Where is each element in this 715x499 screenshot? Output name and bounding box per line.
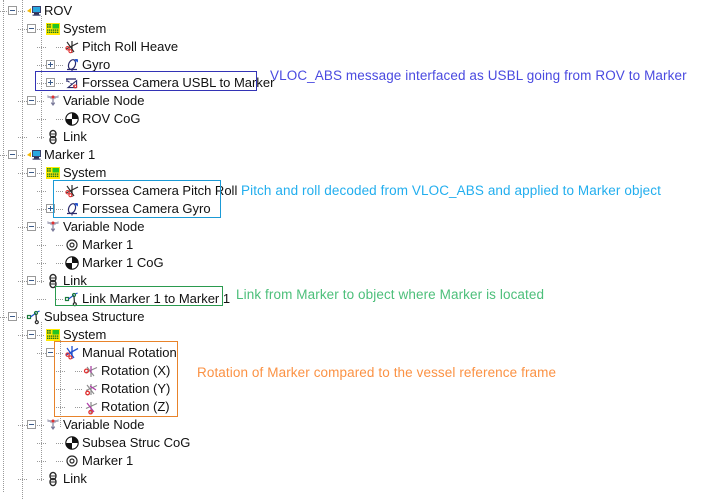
collapse-icon[interactable] (8, 6, 17, 15)
tree-node-label: Pitch Roll Heave (82, 38, 178, 56)
tree-node-label: Forssea Camera Gyro (82, 200, 211, 218)
tree-node-gyro[interactable]: Gyro (0, 56, 300, 74)
tree-guide-line (60, 340, 61, 427)
tree-guide-line (22, 0, 23, 157)
link-graph-icon (26, 309, 42, 325)
expand-icon[interactable] (46, 78, 55, 87)
tree-node-label: Link (63, 470, 87, 488)
tree-node-label: Gyro (82, 56, 110, 74)
tree-node-pitch-roll-heave[interactable]: Pitch Roll Heave (0, 38, 300, 56)
tree-node-label: Manual Rotation (82, 344, 177, 362)
tree-stub-line (56, 191, 63, 192)
tree-node-link[interactable]: Link (0, 470, 300, 488)
variable-node-icon (45, 417, 61, 433)
annotation-text-blue: VLOC_ABS message interfaced as USBL goin… (270, 68, 687, 83)
tree-node-link[interactable]: Link (0, 128, 300, 146)
tree-stub-line (56, 443, 63, 444)
collapse-icon[interactable] (27, 168, 36, 177)
tree-stub-line (56, 119, 63, 120)
tree-node-label: Marker 1 (82, 236, 133, 254)
tree-node-system[interactable]: System (0, 20, 300, 38)
tree-stub-line (56, 209, 63, 210)
tree-node-label: System (63, 326, 106, 344)
tree-node-label: Marker 1 (82, 452, 133, 470)
tree-node-marker-1-cog[interactable]: Marker 1 CoG (0, 254, 300, 272)
collapse-icon[interactable] (8, 312, 17, 321)
tree-node-label: Link Marker 1 to Marker 1 (82, 290, 230, 308)
marker-target-icon (64, 237, 80, 253)
tree-node-label: Link (63, 128, 87, 146)
collapse-icon[interactable] (46, 348, 55, 357)
vessel-monitor-icon (26, 147, 42, 163)
tree-node-forssea-camera-usbl-to-marker[interactable]: Forssea Camera USBL to Marker (0, 74, 300, 92)
tree-node-rov-cog[interactable]: ROV CoG (0, 110, 300, 128)
tree-guide-line (41, 412, 42, 481)
tree-node-system[interactable]: System (0, 164, 300, 182)
collapse-icon[interactable] (27, 276, 36, 285)
tree-node-manual-rotation[interactable]: Manual Rotation (0, 344, 300, 362)
tree-node-label: Forssea Camera Pitch Roll (82, 182, 237, 200)
tree-guide-line (41, 160, 42, 283)
tree-node-marker-1[interactable]: Marker 1 (0, 452, 300, 470)
link-chain-icon (45, 471, 61, 487)
tree-node-marker-1[interactable]: Marker 1 (0, 146, 300, 164)
tree-stub-line (56, 83, 63, 84)
tree-guide-line (22, 304, 23, 499)
gyro-icon (64, 57, 80, 73)
vessel-monitor-icon (26, 3, 42, 19)
expand-icon[interactable] (46, 204, 55, 213)
tree-node-label: System (63, 20, 106, 38)
cog-sphere-icon (64, 435, 80, 451)
collapse-icon[interactable] (27, 330, 36, 339)
expand-icon[interactable] (46, 60, 55, 69)
system-grid-icon (45, 327, 61, 343)
variable-node-icon (45, 93, 61, 109)
system-grid-icon (45, 165, 61, 181)
system-grid-icon (45, 21, 61, 37)
tree-stub-line (75, 389, 82, 390)
tree-node-system[interactable]: System (0, 326, 300, 344)
axis-cross-blue-icon (64, 345, 80, 361)
tree-stub-line (75, 407, 82, 408)
tree-node-label: Variable Node (63, 92, 144, 110)
annotation-text-orange: Rotation of Marker compared to the vesse… (197, 365, 556, 380)
tree-node-label: Rotation (X) (101, 362, 170, 380)
axis-rot-z-icon (83, 399, 99, 415)
tree-node-label: System (63, 164, 106, 182)
tree-guide-line (22, 142, 23, 319)
gyro-icon (64, 201, 80, 217)
link-graph-icon (64, 291, 80, 307)
tree-node-subsea-struc-cog[interactable]: Subsea Struc CoG (0, 434, 300, 452)
collapse-icon[interactable] (27, 24, 36, 33)
collapse-icon[interactable] (27, 96, 36, 105)
cog-sphere-icon (64, 255, 80, 271)
tree-node-forssea-camera-gyro[interactable]: Forssea Camera Gyro (0, 200, 300, 218)
tree-stub-line (56, 65, 63, 66)
tree-node-label: Forssea Camera USBL to Marker (82, 74, 274, 92)
tree-node-label: Rotation (Z) (101, 398, 170, 416)
cog-sphere-icon (64, 111, 80, 127)
link-chain-icon (45, 129, 61, 145)
tree-stub-line (75, 371, 82, 372)
collapse-icon[interactable] (8, 150, 17, 159)
tree-node-label: Subsea Struc CoG (82, 434, 190, 452)
tree-node-label: Marker 1 (44, 146, 95, 164)
tree-stub-line (56, 245, 63, 246)
tree-node-label: ROV CoG (82, 110, 141, 128)
tree-node-label: Subsea Structure (44, 308, 144, 326)
axis-rot-y-icon (83, 381, 99, 397)
link-chain-icon (45, 273, 61, 289)
tree-node-label: Rotation (Y) (101, 380, 170, 398)
tree-guide-line (41, 16, 42, 139)
tree-node-rov[interactable]: ROV (0, 2, 300, 20)
usbl-camera-icon (64, 75, 80, 91)
annotation-text-green: Link from Marker to object where Marker … (236, 287, 544, 302)
tree-node-label: Variable Node (63, 218, 144, 236)
tree-node-label: Link (63, 272, 87, 290)
tree-node-rotation-z[interactable]: Rotation (Z) (0, 398, 300, 416)
variable-node-icon (45, 219, 61, 235)
tree-node-label: Marker 1 CoG (82, 254, 164, 272)
collapse-icon[interactable] (27, 420, 36, 429)
collapse-icon[interactable] (27, 222, 36, 231)
tree-node-rotation-y[interactable]: Rotation (Y) (0, 380, 300, 398)
tree-node-subsea-structure[interactable]: Subsea Structure (0, 308, 300, 326)
tree-node-variable-node[interactable]: Variable Node (0, 218, 300, 236)
axis-cross-red-icon (64, 183, 80, 199)
marker-target-icon (64, 453, 80, 469)
tree-node-variable-node[interactable]: Variable Node (0, 416, 300, 434)
tree-node-variable-node[interactable]: Variable Node (0, 92, 300, 110)
annotation-text-cyan: Pitch and roll decoded from VLOC_ABS and… (241, 183, 661, 198)
tree-node-marker-1[interactable]: Marker 1 (0, 236, 300, 254)
tree-stub-line (56, 263, 63, 264)
axis-rot-x-icon (83, 363, 99, 379)
tree-stub-line (56, 47, 63, 48)
tree-node-label: ROV (44, 2, 72, 20)
tree-stub-line (56, 461, 63, 462)
tree-stub-line (56, 299, 63, 300)
tree-node-label: Variable Node (63, 416, 144, 434)
axis-cross-red-icon (64, 39, 80, 55)
